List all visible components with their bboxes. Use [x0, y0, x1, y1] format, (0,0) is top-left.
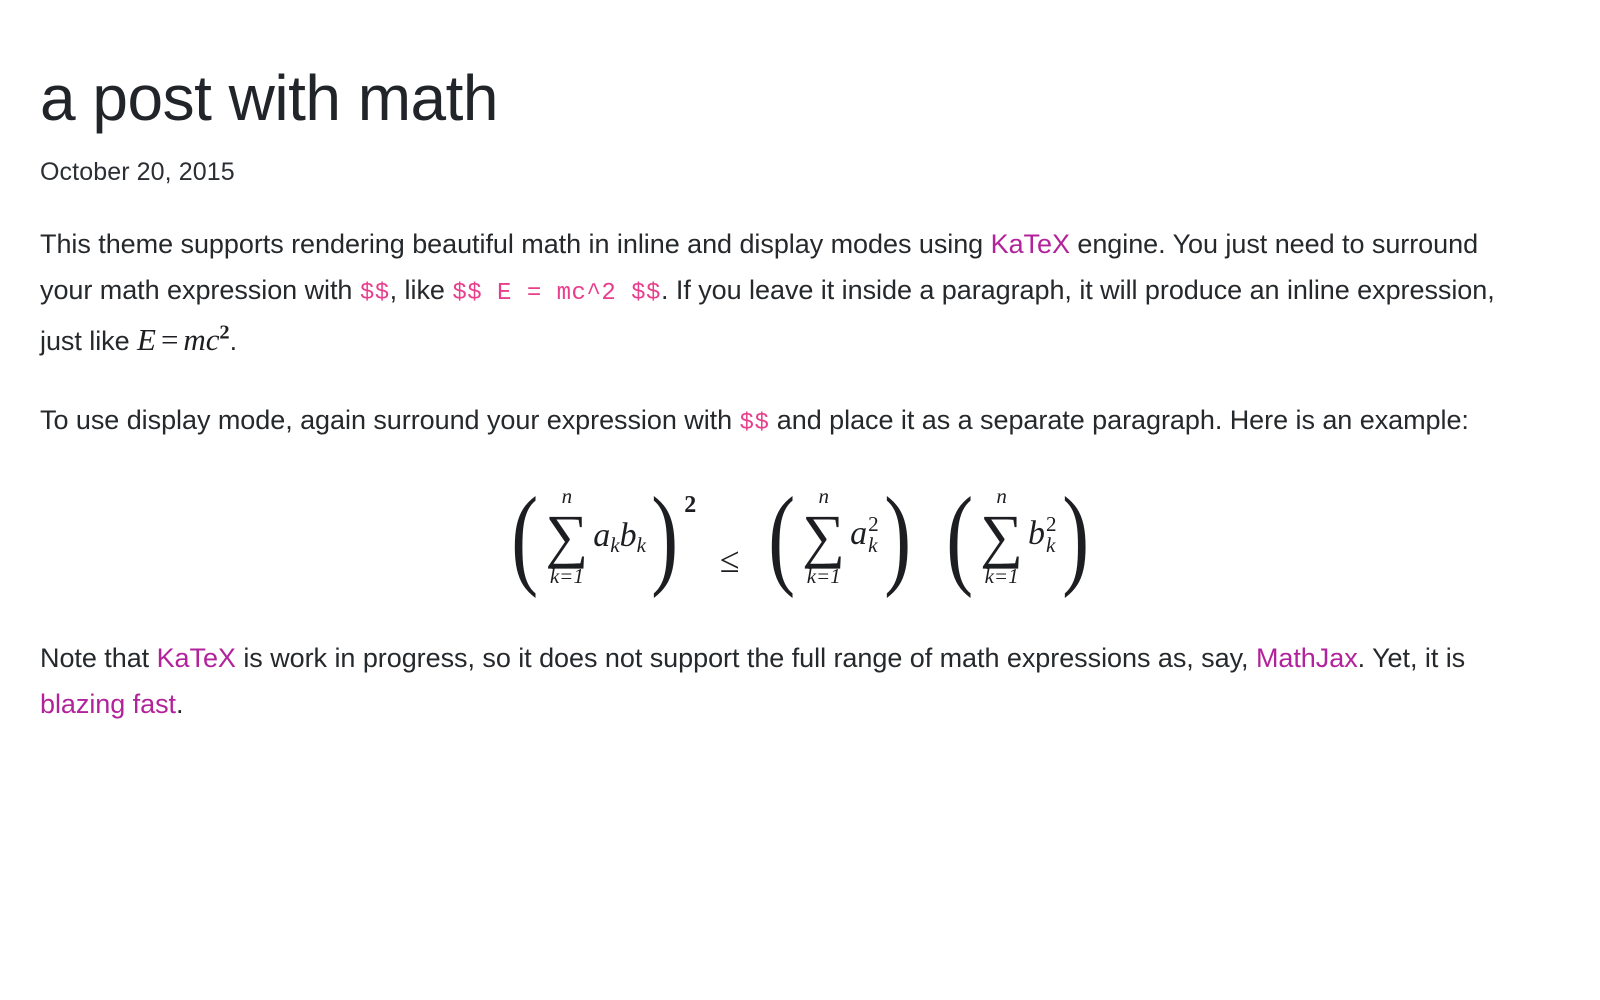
math-subscript-k: k: [868, 535, 879, 556]
math-summation-1: n ∑ k=1: [545, 486, 588, 587]
paragraph-display-mode: To use display mode, again surround your…: [40, 397, 1530, 447]
math-group-rhs-b: ( n ∑ k=1 b2k ): [941, 486, 1094, 587]
link-katex[interactable]: KaTeX: [991, 229, 1070, 259]
math-superscript-2: 2: [1046, 514, 1057, 535]
math-summand-akbk: akbk: [593, 517, 646, 555]
math-relation-leq: ≤: [720, 540, 740, 580]
math-summand-ak2: a2k: [850, 515, 879, 557]
math-exponent-2: 2: [219, 321, 229, 343]
math-subscript-k: k: [610, 533, 619, 557]
link-mathjax[interactable]: MathJax: [1256, 643, 1358, 673]
paragraph-note: Note that KaTeX is work in progress, so …: [40, 635, 1530, 727]
text-segment: .: [176, 689, 183, 719]
math-summation-3: n ∑ k=1: [980, 486, 1023, 587]
text-segment: .: [230, 326, 237, 356]
math-right-paren: ): [651, 503, 678, 572]
math-subscript-k: k: [637, 533, 646, 557]
math-variable-E: E: [137, 322, 156, 357]
inline-code-dollars: $$: [740, 410, 770, 437]
text-segment: Note that: [40, 643, 157, 673]
post-page: a post with math October 20, 2015 This t…: [0, 0, 1600, 1000]
inline-code-dollars: $$: [360, 280, 390, 307]
math-group-lhs: ( n ∑ k=1 akbk ) 2: [506, 486, 696, 587]
display-math-cauchy-schwarz: ( n ∑ k=1 akbk ) 2 ≤ ( n ∑ k=1 a2k: [40, 480, 1560, 605]
math-left-paren: (: [768, 503, 795, 572]
math-variable-mc: mc: [183, 322, 219, 357]
math-sigma-icon: ∑: [980, 509, 1023, 564]
text-segment: , like: [390, 275, 453, 305]
math-lower-limit: k=1: [985, 566, 1019, 587]
math-superscript-2: 2: [868, 514, 879, 535]
inline-math-emc2: E=mc2: [137, 322, 230, 357]
math-supsub: 2k: [868, 514, 879, 556]
post-date: October 20, 2015: [40, 158, 1560, 187]
post-body: This theme supports rendering beautiful …: [40, 221, 1560, 727]
math-outer-exponent: 2: [684, 492, 696, 519]
math-group-rhs-a: ( n ∑ k=1 a2k ): [763, 486, 916, 587]
math-variable-a: a: [593, 517, 610, 554]
math-lower-limit: k=1: [807, 566, 841, 587]
math-right-paren: ): [1062, 503, 1089, 572]
text-segment: is work in progress, so it does not supp…: [236, 643, 1256, 673]
math-summand-bk2: b2k: [1028, 515, 1057, 557]
text-segment: . Yet, it is: [1358, 643, 1465, 673]
math-left-paren: (: [511, 503, 538, 572]
math-variable-a: a: [850, 515, 867, 552]
math-variable-b: b: [1028, 515, 1045, 552]
math-subscript-k: k: [1046, 535, 1057, 556]
math-variable-b: b: [620, 517, 637, 554]
paragraph-intro: This theme supports rendering beautiful …: [40, 221, 1530, 364]
text-segment: This theme supports rendering beautiful …: [40, 229, 991, 259]
page-title: a post with math: [40, 62, 1560, 136]
text-segment: To use display mode, again surround your…: [40, 405, 740, 435]
inline-code-example: $$ E = mc^2 $$: [452, 280, 661, 307]
math-supsub: 2k: [1046, 514, 1057, 556]
math-sigma-icon: ∑: [802, 509, 845, 564]
math-right-paren: ): [884, 503, 911, 572]
math-lower-limit: k=1: [550, 566, 584, 587]
math-sigma-icon: ∑: [545, 509, 588, 564]
math-summation-2: n ∑ k=1: [802, 486, 845, 587]
math-left-paren: (: [946, 503, 973, 572]
math-operator-equals: =: [156, 322, 183, 357]
text-segment: and place it as a separate paragraph. He…: [769, 405, 1469, 435]
link-katex[interactable]: KaTeX: [157, 643, 236, 673]
link-blazing-fast[interactable]: blazing fast: [40, 689, 176, 719]
